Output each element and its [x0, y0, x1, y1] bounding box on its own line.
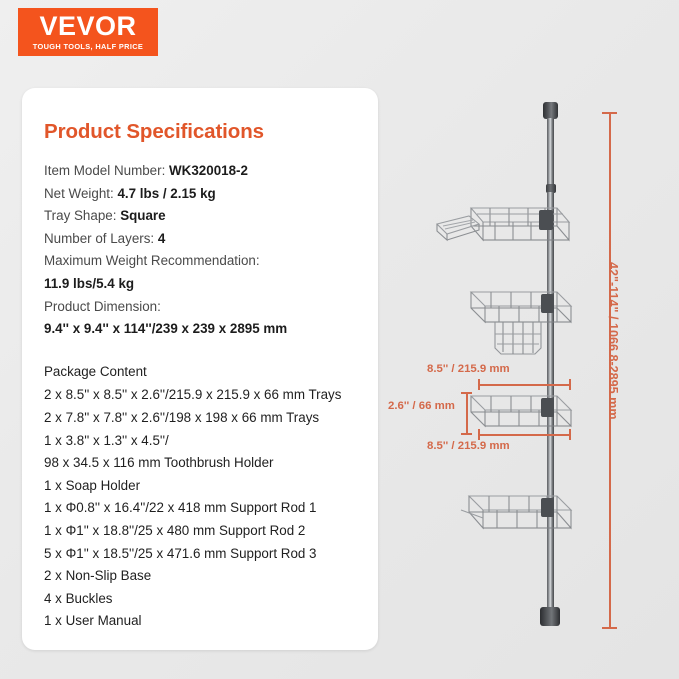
- package-item: 1 x User Manual: [44, 610, 378, 633]
- spec-value-max-weight: 11.9 lbs/5.4 kg: [44, 273, 378, 296]
- shelf-basket-1: [435, 198, 575, 250]
- spec-value-product-dimension: 9.4'' x 9.4'' x 114''/239 x 239 x 2895 m…: [44, 318, 378, 341]
- dimension-tick: [478, 429, 480, 440]
- spec-label-tray-shape: Tray Shape:: [44, 208, 116, 223]
- page-title: Product Specifications: [44, 120, 378, 144]
- package-item: 5 x Φ1'' x 18.5''/25 x 471.6 mm Support …: [44, 543, 378, 566]
- spec-label-model: Item Model Number:: [44, 163, 165, 178]
- page-background: VEVOR TOUGH TOOLS, HALF PRICE Product Sp…: [0, 0, 679, 679]
- shelf-basket-2: [461, 284, 583, 356]
- dimension-tick: [602, 112, 617, 114]
- package-item: 1 x 3.8'' x 1.3'' x 4.5''/: [44, 430, 378, 453]
- package-item: 1 x Φ1'' x 18.8''/25 x 480 mm Support Ro…: [44, 520, 378, 543]
- package-item: 4 x Buckles: [44, 588, 378, 611]
- logo-tagline: TOUGH TOOLS, HALF PRICE: [33, 43, 143, 50]
- dimension-tick: [461, 392, 472, 394]
- package-item: 2 x 7.8'' x 7.8'' x 2.6''/198 x 198 x 66…: [44, 407, 378, 430]
- spec-label-layers: Number of Layers:: [44, 231, 154, 246]
- package-item: 1 x Soap Holder: [44, 475, 378, 498]
- dimension-label-width-bottom: 8.5'' / 215.9 mm: [427, 440, 510, 452]
- shelf-basket-4: [457, 488, 585, 538]
- spec-row-tray-shape: Tray Shape: Square: [44, 205, 378, 228]
- dimension-tick: [478, 379, 480, 390]
- package-content-heading: Package Content: [44, 361, 378, 384]
- dimension-tick: [461, 433, 472, 435]
- dimension-label-width-top: 8.5'' / 215.9 mm: [427, 363, 510, 375]
- dimension-line: [466, 392, 468, 434]
- package-item: 2 x Non-Slip Base: [44, 565, 378, 588]
- spec-row-layers: Number of Layers: 4: [44, 228, 378, 251]
- spec-label-net-weight: Net Weight:: [44, 186, 114, 201]
- dimension-label-tray-height: 2.6'' / 66 mm: [388, 400, 455, 412]
- product-specifications-card: Product Specifications Item Model Number…: [22, 88, 378, 650]
- vevor-logo: VEVOR TOUGH TOOLS, HALF PRICE: [18, 8, 158, 56]
- dimension-tick: [602, 627, 617, 629]
- pole-top-cap: [543, 102, 558, 119]
- dimension-line: [478, 434, 570, 436]
- package-item: 2 x 8.5'' x 8.5'' x 2.6''/215.9 x 215.9 …: [44, 384, 378, 407]
- spec-row-net-weight: Net Weight: 4.7 lbs / 2.15 kg: [44, 183, 378, 206]
- dimension-label-total-height: 42"-114" / 1066.8-2895 mm: [606, 262, 620, 420]
- spec-value-net-weight: 4.7 lbs / 2.15 kg: [117, 186, 215, 201]
- dimension-line: [478, 384, 570, 386]
- dimension-tick: [569, 379, 571, 390]
- spec-value-model: WK320018-2: [169, 163, 248, 178]
- pole-bottom-base: [540, 607, 560, 626]
- dimension-tick: [569, 429, 571, 440]
- package-content-section: Package Content 2 x 8.5'' x 8.5'' x 2.6'…: [44, 361, 378, 633]
- logo-wordmark: VEVOR: [39, 13, 136, 40]
- package-item: 1 x Φ0.8'' x 16.4''/22 x 418 mm Support …: [44, 497, 378, 520]
- spec-row-model: Item Model Number: WK320018-2: [44, 160, 378, 183]
- spec-label-max-weight: Maximum Weight Recommendation:: [44, 250, 378, 273]
- package-item: 98 x 34.5 x 116 mm Toothbrush Holder: [44, 452, 378, 475]
- spec-label-product-dimension: Product Dimension:: [44, 296, 378, 319]
- pole-segment-1: [547, 118, 554, 186]
- spec-value-layers: 4: [158, 231, 165, 246]
- spec-value-tray-shape: Square: [120, 208, 165, 223]
